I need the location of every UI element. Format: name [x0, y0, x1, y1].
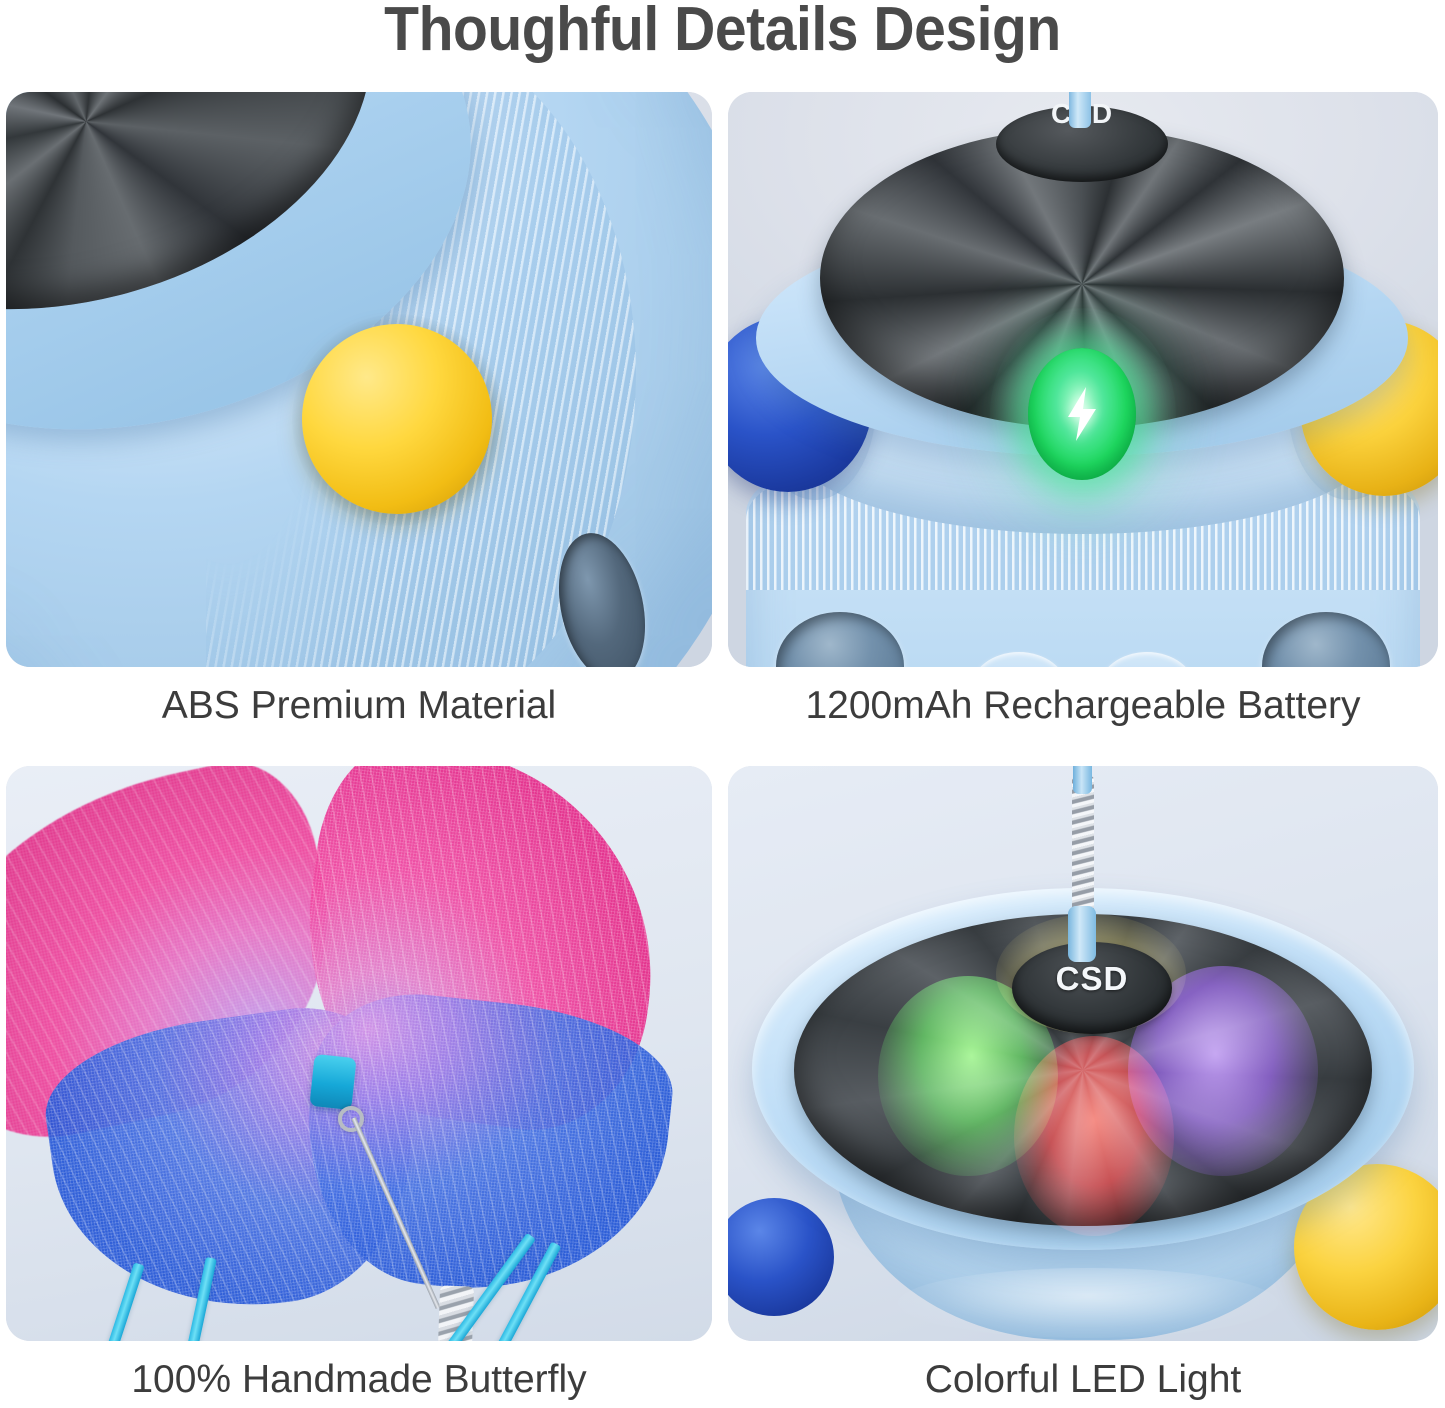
metal-spring	[1072, 776, 1094, 926]
product-photo-abs-premium-material	[6, 92, 712, 667]
feature-caption-abs-premium-material: ABS Premium Material	[6, 684, 712, 728]
wand-rod	[1069, 92, 1091, 128]
feature-grid: ABS Premium Material CSD	[6, 92, 1438, 1402]
feature-caption-handmade-butterfly: 100% Handmade Butterfly	[6, 1358, 712, 1402]
product-detail-infographic: Thoughful Details Design ABS Premium Mat…	[0, 0, 1445, 1408]
surface-reflection	[898, 1268, 1278, 1338]
wand-rod-tip	[1068, 906, 1096, 962]
brand-logo-text: CSD	[1012, 960, 1172, 998]
product-photo-handmade-butterfly	[6, 766, 712, 1341]
lightning-bolt-icon	[1028, 350, 1136, 478]
product-photo-rechargeable-battery: CSD	[728, 92, 1438, 667]
feature-card-abs-premium-material: ABS Premium Material	[6, 92, 712, 667]
yellow-ball	[302, 324, 492, 514]
wand-rod-top	[1073, 766, 1092, 794]
feature-caption-colorful-led-light: Colorful LED Light	[728, 1358, 1438, 1402]
feature-card-rechargeable-battery: CSD	[728, 92, 1438, 667]
page-title: Thoughful Details Design	[58, 0, 1387, 65]
feature-card-colorful-led-light: CSD Colorful LED Light	[728, 766, 1438, 1341]
feature-caption-rechargeable-battery: 1200mAh Rechargeable Battery	[728, 684, 1438, 728]
feature-card-handmade-butterfly: 100% Handmade Butterfly	[6, 766, 712, 1341]
butterfly-body-knot	[309, 1054, 356, 1110]
product-photo-colorful-led-light: CSD	[728, 766, 1438, 1341]
